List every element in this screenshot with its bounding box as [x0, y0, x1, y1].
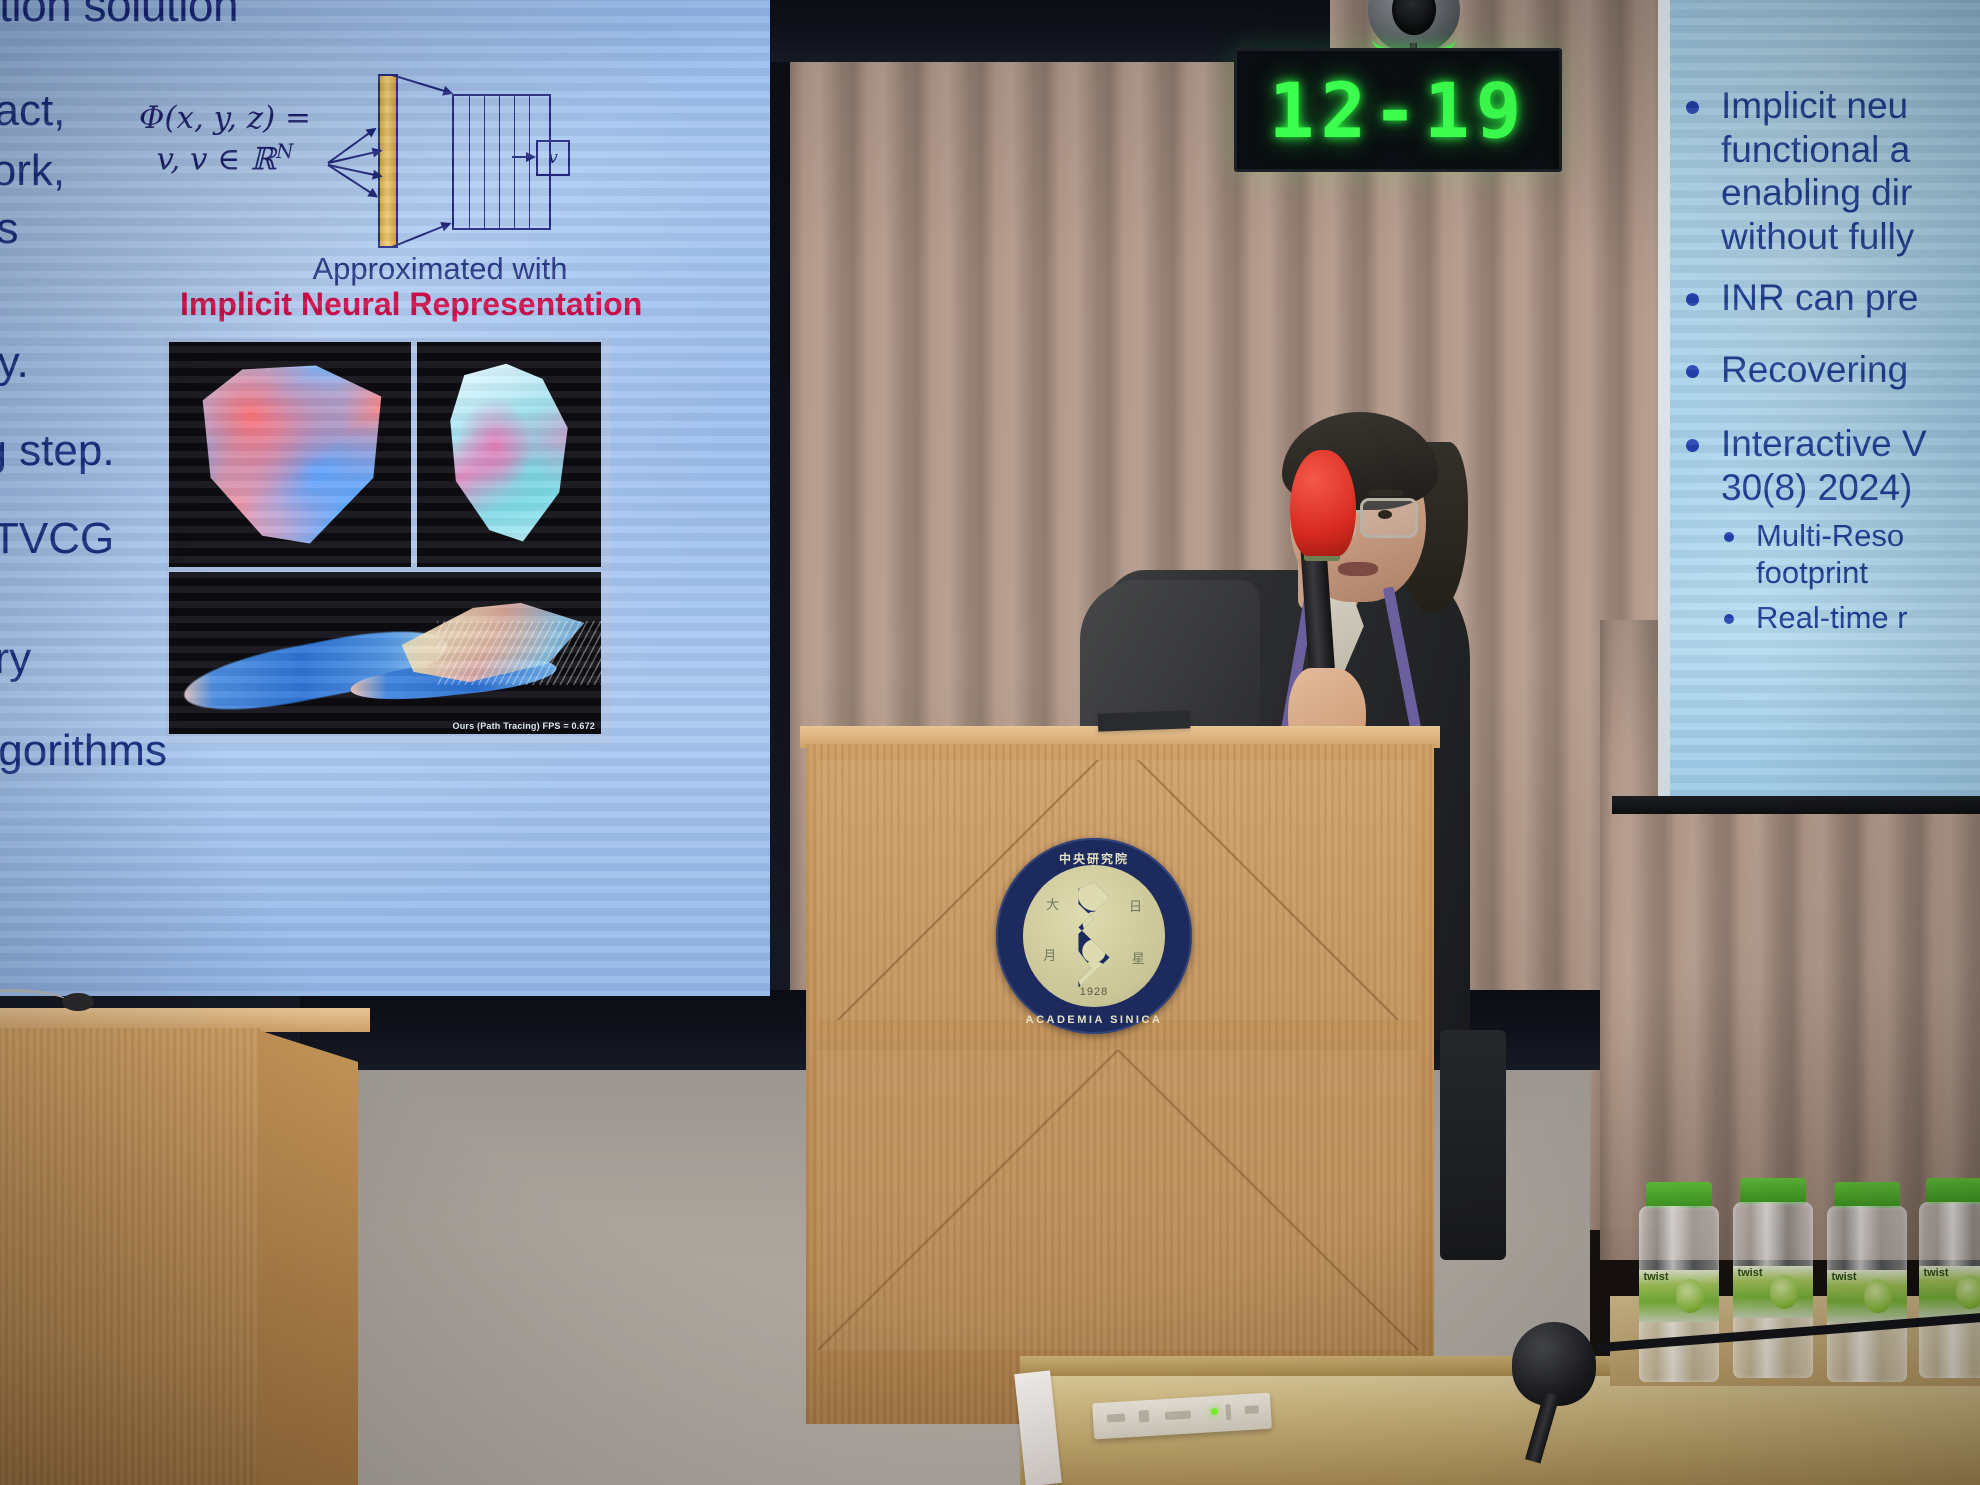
bottle-brand-text: twist	[1643, 1271, 1668, 1283]
render-panel-bottom: Ours (Path Tracing) FPS = 0.672	[169, 572, 601, 734]
remote-button	[1225, 1404, 1231, 1420]
network-diagram: v	[340, 66, 580, 256]
remote-button	[1245, 1405, 1259, 1414]
bullet-line: without fully	[1721, 215, 1914, 259]
plane-to-mlp-arrow	[392, 74, 452, 94]
digital-clock: 12-19	[1234, 48, 1562, 172]
formula-exponent: N	[276, 139, 294, 163]
lime-graphic-icon	[1770, 1275, 1798, 1308]
bottle-brand-text: twist	[1737, 1267, 1762, 1279]
emblem-seal-glyph: 月	[1043, 945, 1056, 964]
lime-graphic-icon	[1676, 1279, 1704, 1312]
render-panel-caption: Ours (Path Tracing) FPS = 0.672	[453, 721, 596, 731]
bottle-label: twist	[1639, 1270, 1718, 1322]
mlp-column	[514, 96, 515, 228]
bottle-brand-text: twist	[1923, 1267, 1948, 1279]
water-bottle: twist	[1824, 1182, 1910, 1382]
right-screen-bottom-frame	[1612, 796, 1980, 814]
remote-button	[1107, 1413, 1125, 1422]
speaker-eye-right	[1378, 510, 1392, 519]
right-bullet-4: Interactive V 30(8) 2024)	[1686, 422, 1927, 509]
bullet-dot-icon	[1686, 293, 1699, 306]
bottle-label: twist	[1827, 1270, 1906, 1322]
inr-formula: Φ(x, y, z) = v, v ∈ ℝN	[100, 98, 350, 180]
render-panel-top-left	[169, 342, 411, 567]
volume-render-b	[439, 360, 579, 549]
slide-title: ation solution	[0, 0, 238, 32]
bullet-dot-icon	[1686, 101, 1699, 114]
right-bullet-6-text: Real-time r	[1756, 600, 1908, 637]
bottle-brand-text: twist	[1831, 1271, 1856, 1283]
speaker-brow-right	[1368, 490, 1404, 496]
chair-back	[1440, 1030, 1506, 1260]
left-podium-body	[0, 1028, 260, 1485]
volume-render-c-streaks	[437, 621, 601, 686]
emblem-seal-glyph: 星	[1132, 948, 1145, 967]
table-microphone-head	[1512, 1322, 1596, 1406]
gooseneck-arm	[0, 989, 70, 1018]
slide-line-2: work,	[0, 146, 65, 196]
water-bottle: twist	[1916, 1178, 1980, 1378]
conference-photo-scene: ation solution pact, work, ns lity. ng s…	[0, 0, 1980, 1485]
right-bullet-5-text: Multi-Reso footprint	[1756, 518, 1904, 591]
emblem-year: 1928	[1023, 986, 1164, 998]
slide-line-1: pact,	[0, 86, 65, 136]
bullet-dot-icon	[1686, 439, 1699, 452]
bullet-line: Implicit neu	[1721, 84, 1914, 128]
slide-line-6: TVCG	[0, 514, 114, 564]
formula-line-1: Φ(x, y, z) =	[100, 98, 350, 138]
implicit-neural-representation-label: Implicit Neural Representation	[180, 286, 600, 323]
bullet-line: Interactive V	[1721, 422, 1927, 466]
bottle-cap	[1740, 1178, 1805, 1204]
remote-button	[1139, 1410, 1150, 1423]
left-projection-screen: ation solution pact, work, ns lity. ng s…	[0, 0, 770, 996]
bottle-label: twist	[1733, 1266, 1812, 1318]
lime-graphic-icon	[1864, 1279, 1892, 1312]
bottle-cap	[1834, 1182, 1899, 1208]
right-bullet-2-text: INR can pre	[1721, 276, 1918, 320]
table-microphone	[1512, 1322, 1596, 1406]
slide-line-7: ory	[0, 634, 31, 684]
right-bullet-1-text: Implicit neu functional a enabling dir w…	[1721, 84, 1914, 259]
slide-line-3: ns	[0, 204, 18, 254]
right-bullet-3-text: Recovering	[1721, 348, 1908, 392]
speaker-mouth	[1338, 562, 1378, 576]
bottle-cap	[1926, 1178, 1980, 1204]
bullet-dot-icon	[1724, 532, 1734, 542]
render-panel-top-right	[417, 342, 601, 567]
emblem-dna-motif	[1078, 882, 1109, 989]
bullet-dot-icon	[1724, 614, 1734, 624]
emblem-chinese-text: 中央研究院	[996, 850, 1192, 867]
emblem-seal-glyph: 日	[1129, 896, 1142, 915]
academia-sinica-emblem: 中央研究院 ACADEMIA SINICA 大 日 月 星 1928	[996, 838, 1192, 1034]
plane-to-mlp-arrow	[392, 223, 450, 248]
mlp-column	[469, 96, 470, 228]
volume-render-a	[191, 358, 389, 552]
right-bullet-6: Real-time r	[1724, 600, 1908, 637]
remote-button	[1165, 1410, 1191, 1420]
slide-line-8: algorithms	[0, 726, 167, 776]
bullet-dot-icon	[1686, 365, 1699, 378]
bullet-line: 30(8) 2024)	[1721, 466, 1927, 510]
slide-line-4: lity.	[0, 338, 29, 388]
input-plane-bar	[378, 74, 398, 248]
bottle-cap	[1646, 1182, 1711, 1208]
emblem-inner-disc: 大 日 月 星 1928	[1023, 865, 1164, 1006]
slide-line-5: ng step.	[0, 426, 115, 476]
network-output-box: v	[536, 140, 570, 176]
microphone-foam-head	[1290, 450, 1356, 556]
right-bullet-1: Implicit neu functional a enabling dir w…	[1686, 84, 1914, 259]
podium-chevron	[818, 1050, 1118, 1350]
mlp-to-output-arrow	[512, 156, 534, 158]
formula-line-2-base: v, v ∈ ℝ	[157, 142, 276, 178]
microphone-capsule-icon	[62, 993, 94, 1011]
podium-document	[1098, 710, 1191, 731]
approximated-with-label: Approximated with	[280, 251, 600, 287]
bullet-line: footprint	[1756, 555, 1904, 592]
left-podium-side	[258, 1030, 358, 1485]
bullet-line: enabling dir	[1721, 171, 1914, 215]
emblem-seal-glyph: 大	[1046, 894, 1059, 913]
right-bullet-5: Multi-Reso footprint	[1724, 518, 1904, 591]
right-screen-left-frame	[1658, 0, 1670, 800]
right-bullet-4-text: Interactive V 30(8) 2024)	[1721, 422, 1927, 509]
render-panel-group: Ours (Path Tracing) FPS = 0.672	[165, 338, 611, 744]
ceiling-camera	[1368, 0, 1460, 54]
water-bottle: twist	[1730, 1178, 1816, 1378]
remote-power-led-icon	[1211, 1408, 1218, 1415]
bottle-label: twist	[1919, 1266, 1980, 1318]
right-projection-screen: Implicit neu functional a enabling dir w…	[1668, 0, 1980, 798]
mlp-column	[499, 96, 500, 228]
water-bottle: twist	[1636, 1182, 1722, 1382]
bullet-line: functional a	[1721, 128, 1914, 172]
right-bullet-3: Recovering	[1686, 348, 1908, 392]
formula-line-2: v, v ∈ ℝN	[100, 138, 350, 180]
podium-chevron	[1118, 1050, 1418, 1350]
mlp-column	[484, 96, 485, 228]
lime-graphic-icon	[1956, 1275, 1980, 1308]
clock-time-display: 12-19	[1269, 66, 1528, 155]
right-bullet-2: INR can pre	[1686, 276, 1918, 320]
bullet-line: Multi-Reso	[1756, 518, 1904, 555]
emblem-latin-text: ACADEMIA SINICA	[996, 1014, 1192, 1026]
left-podium-gooseneck-mic	[0, 985, 110, 1025]
mlp-column	[529, 96, 530, 228]
